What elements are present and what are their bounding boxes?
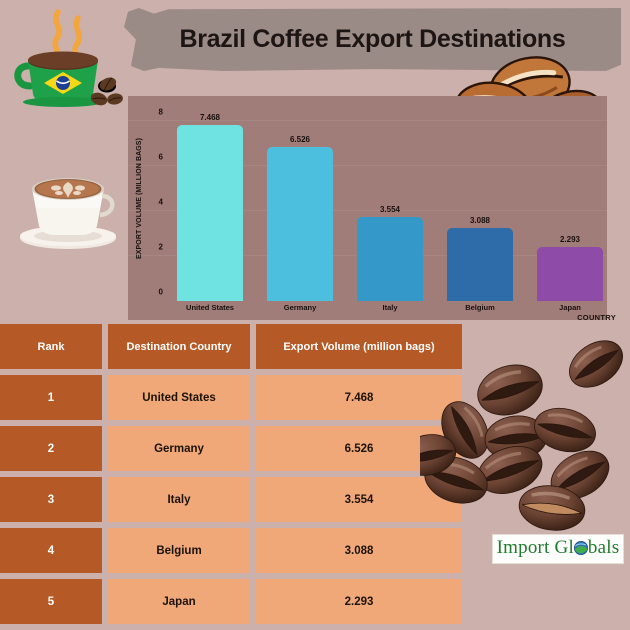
export-table: Rank Destination Country Export Volume (… [0, 324, 462, 630]
table-row: 3Italy3.554 [0, 477, 462, 522]
cell-rank: 3 [0, 477, 102, 522]
brazil-coffee-cup-icon [6, 4, 124, 108]
bar-rect [357, 217, 424, 301]
y-tick: 6 [159, 153, 163, 162]
bar-japan: 2.293 [537, 235, 604, 301]
bar-united-states: 7.468 [177, 113, 244, 301]
bar-rect [537, 247, 604, 301]
infographic-page: { "header": { "title": "Brazil Coffee Ex… [0, 0, 630, 570]
chart-plot-area: 7.4686.5263.5543.0882.293 [165, 112, 622, 301]
bar-italy: 3.554 [357, 205, 424, 301]
chart-x-axis-label: COUNTRY [0, 313, 616, 322]
x-tick: Belgium [435, 303, 525, 312]
logo-text-before: Import Gl [497, 537, 574, 558]
cell-rank: 5 [0, 579, 102, 624]
y-tick: 4 [159, 198, 163, 207]
bar-value-label: 2.293 [560, 235, 580, 244]
column-header-country: Destination Country [108, 324, 250, 369]
column-header-rank: Rank [0, 324, 102, 369]
roasted-coffee-beans-image [420, 330, 630, 540]
bar-rect [267, 147, 334, 301]
bar-germany: 6.526 [267, 135, 334, 301]
logo-text-after: bals [588, 537, 619, 558]
bar-value-label: 6.526 [290, 135, 310, 144]
table-row: 5Japan2.293 [0, 579, 462, 624]
cell-rank: 2 [0, 426, 102, 471]
cell-country: Belgium [108, 528, 250, 573]
logo-text: Import Gl bals [497, 537, 620, 562]
table-row: 1United States7.468 [0, 375, 462, 420]
y-tick: 8 [159, 108, 163, 117]
y-tick: 0 [159, 288, 163, 297]
x-tick: Germany [255, 303, 345, 312]
cell-volume: 2.293 [256, 579, 462, 624]
x-tick: Italy [345, 303, 435, 312]
bar-rect [447, 228, 514, 301]
table-row: 4Belgium3.088 [0, 528, 462, 573]
table-body: 1United States7.4682Germany6.5263Italy3.… [0, 375, 462, 624]
cell-rank: 4 [0, 528, 102, 573]
latte-coffee-cup-image [12, 158, 124, 250]
chart-y-axis-ticks: 8 6 4 2 0 [146, 96, 163, 301]
bar-rect [177, 125, 244, 301]
x-tick: United States [165, 303, 255, 312]
bar-value-label: 7.468 [200, 113, 220, 122]
cell-country: United States [108, 375, 250, 420]
table-header-row: Rank Destination Country Export Volume (… [0, 324, 462, 369]
globe-icon [573, 540, 589, 562]
x-tick: Japan [525, 303, 615, 312]
y-tick: 2 [159, 243, 163, 252]
table-row: 2Germany6.526 [0, 426, 462, 471]
import-globals-logo[interactable]: Import Gl bals [492, 534, 624, 564]
bar-value-label: 3.088 [470, 216, 490, 225]
bar-belgium: 3.088 [447, 216, 514, 301]
bar-value-label: 3.554 [380, 205, 400, 214]
cell-country: Italy [108, 477, 250, 522]
cell-country: Japan [108, 579, 250, 624]
cell-rank: 1 [0, 375, 102, 420]
cell-country: Germany [108, 426, 250, 471]
